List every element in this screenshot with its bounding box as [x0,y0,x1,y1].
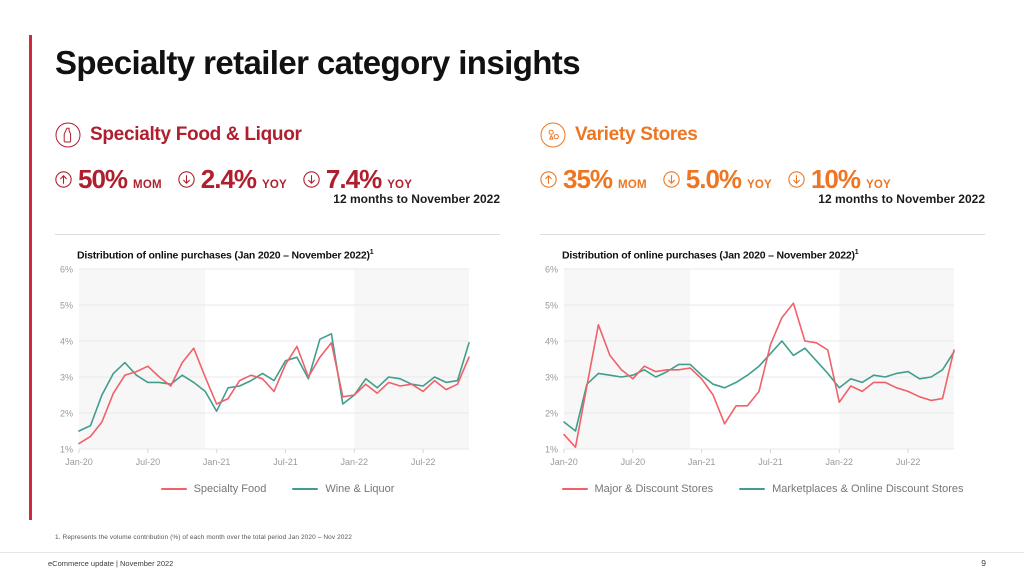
chart-title-superscript: 1 [855,249,859,256]
chart-legend-right: Major & Discount Stores Marketplaces & O… [540,483,985,495]
category-title: Variety Stores [575,124,698,146]
y-tick-label: 2% [545,409,558,419]
chart-title: Distribution of online purchases (Jan 20… [77,249,374,262]
metric-unit: YOY [866,179,891,191]
page-number: 9 [981,558,986,568]
y-tick-label: 1% [60,445,73,455]
legend-swatch [292,488,318,491]
metric-value: 35% [563,166,612,192]
arrow-down-icon [303,171,320,188]
chart-container-right: Distribution of online purchases (Jan 20… [540,249,985,477]
category-header: Variety Stores [540,120,985,150]
line-chart-right: 1%2%3%4%5%6%Jan-20Jul-20Jan-21Jul-21Jan-… [540,263,960,475]
panel-variety-stores: Variety Stores 35% MOM [540,120,985,495]
x-tick-label: Jul-21 [273,457,298,467]
panel-specialty-food-liquor: Specialty Food & Liquor 50% MOM [55,120,500,495]
chart-title-text: Distribution of online purchases (Jan 20… [77,250,370,262]
legend-swatch [161,488,187,491]
metric-note: 12 months to November 2022 [818,192,985,206]
metric-yoy-1: 2.4% YOY [178,166,287,192]
metric-unit: MOM [133,179,162,191]
metric-yoy-1: 5.0% YOY [663,166,772,192]
y-tick-label: 5% [60,301,73,311]
metrics-block: 50% MOM 2.4% YOY [55,166,500,212]
slide-root: Specialty retailer category insights Spe… [0,0,1024,576]
chart-title-text: Distribution of online purchases (Jan 20… [562,250,855,262]
x-tick-label: Jul-21 [758,457,783,467]
metric-value: 7.4% [326,166,381,192]
metric-unit: YOY [262,179,287,191]
left-accent-bar [29,35,32,520]
category-header: Specialty Food & Liquor [55,120,500,150]
footnote: 1. Represents the volume contribution (%… [55,534,352,541]
footer-bar: eCommerce update | November 2022 9 [0,552,1024,576]
legend-label: Major & Discount Stores [595,483,714,495]
chart-title-superscript: 1 [370,249,374,256]
metric-value: 50% [78,166,127,192]
metric-mom: 35% MOM [540,166,647,192]
legend-label: Wine & Liquor [325,483,394,495]
x-tick-label: Jul-22 [896,457,921,467]
metric-mom: 50% MOM [55,166,162,192]
page-title: Specialty retailer category insights [55,44,580,82]
metrics-block: 35% MOM 5.0% YOY [540,166,985,212]
metric-value: 5.0% [686,166,741,192]
legend-item: Marketplaces & Online Discount Stores [739,483,963,495]
legend-swatch [739,488,765,491]
arrow-down-icon [788,171,805,188]
arrow-up-icon [55,171,72,188]
metric-yoy-2: 10% YOY [788,166,891,192]
chart-container-left: Distribution of online purchases (Jan 20… [55,249,500,477]
x-tick-label: Jan-21 [688,457,716,467]
metric-unit: YOY [387,179,412,191]
y-tick-label: 2% [60,409,73,419]
metric-value: 2.4% [201,166,256,192]
y-tick-label: 3% [60,373,73,383]
y-tick-label: 6% [60,265,73,275]
chart-band [564,269,690,449]
metric-yoy-2: 7.4% YOY [303,166,412,192]
legend-label: Specialty Food [194,483,267,495]
y-tick-label: 5% [545,301,558,311]
y-tick-label: 1% [545,445,558,455]
arrow-down-icon [178,171,195,188]
arrow-up-icon [540,171,557,188]
legend-item: Major & Discount Stores [562,483,714,495]
chart-band [79,269,205,449]
chart-legend-left: Specialty Food Wine & Liquor [55,483,500,495]
legend-label: Marketplaces & Online Discount Stores [772,483,963,495]
legend-item: Specialty Food [161,483,267,495]
shapes-icon [540,122,566,148]
y-tick-label: 6% [545,265,558,275]
legend-item: Wine & Liquor [292,483,394,495]
y-tick-label: 4% [545,337,558,347]
chart-band [354,269,469,449]
x-tick-label: Jan-21 [203,457,231,467]
y-tick-label: 4% [60,337,73,347]
category-title: Specialty Food & Liquor [90,124,302,146]
chart-band [839,269,954,449]
x-tick-label: Jan-20 [65,457,93,467]
line-chart-left: 1%2%3%4%5%6%Jan-20Jul-20Jan-21Jul-21Jan-… [55,263,475,475]
metric-unit: MOM [618,179,647,191]
metric-note: 12 months to November 2022 [333,192,500,206]
x-tick-label: Jan-22 [826,457,854,467]
y-tick-label: 3% [545,373,558,383]
x-tick-label: Jan-22 [341,457,369,467]
metric-unit: YOY [747,179,772,191]
metric-value: 10% [811,166,860,192]
panel-divider [55,234,500,235]
panel-divider [540,234,985,235]
x-tick-label: Jul-20 [136,457,161,467]
bottle-icon [55,122,81,148]
x-tick-label: Jul-20 [621,457,646,467]
arrow-down-icon [663,171,680,188]
footer-label: eCommerce update | November 2022 [48,559,173,568]
chart-title: Distribution of online purchases (Jan 20… [562,249,859,262]
x-tick-label: Jan-20 [550,457,578,467]
legend-swatch [562,488,588,491]
x-tick-label: Jul-22 [411,457,436,467]
